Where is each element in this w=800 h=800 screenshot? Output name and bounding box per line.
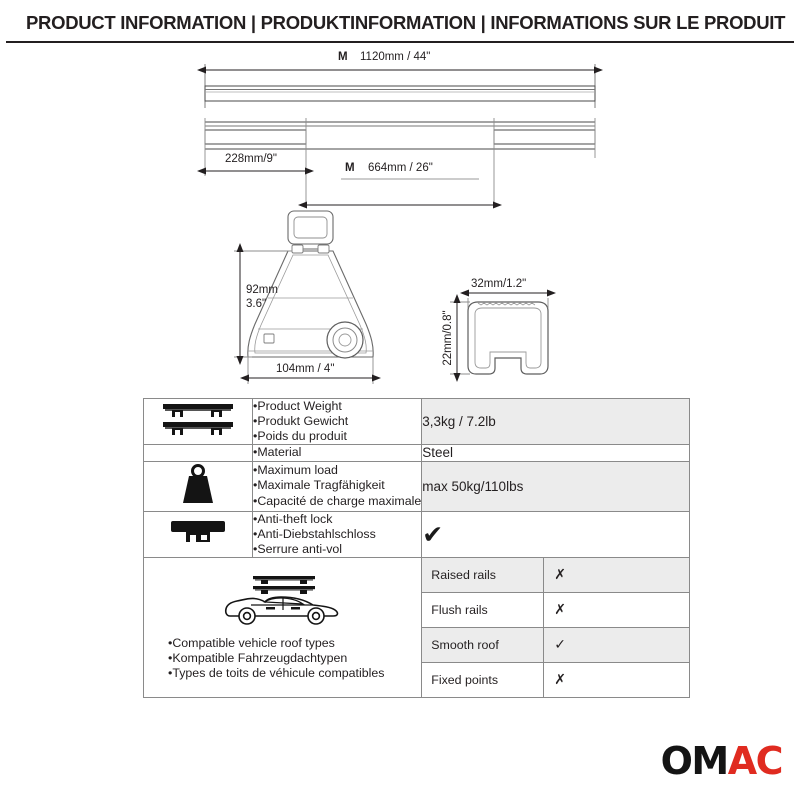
- roof-option-name: Smooth roof: [422, 627, 544, 662]
- table-row: •Material Steel: [144, 445, 690, 461]
- spec-label: •Capacité de charge maximale: [253, 494, 421, 509]
- product-weight-value: 3,3kg / 7.2lb: [422, 399, 690, 445]
- spec-label: •Anti-Diebstahlschloss: [253, 527, 421, 542]
- spec-label: •Produkt Gewicht: [253, 414, 421, 429]
- row-icon-cell: [144, 461, 253, 511]
- row-label-cell: •Material: [253, 445, 422, 461]
- spec-label: •Kompatible Fahrzeugdachtypen: [168, 651, 415, 666]
- logo-text-ac: AC: [728, 739, 782, 783]
- material-value: Steel: [422, 445, 690, 461]
- spec-label: •Material: [253, 445, 421, 460]
- table-row: •Anti-theft lock •Anti-Diebstahlschloss …: [144, 511, 690, 557]
- row-label-cell: •Anti-theft lock •Anti-Diebstahlschloss …: [253, 511, 422, 557]
- roof-types-label-cell: •Compatible vehicle roof types •Kompatib…: [144, 557, 422, 697]
- spec-label: •Compatible vehicle roof types: [168, 636, 415, 651]
- table-row-roof-types: •Compatible vehicle roof types •Kompatib…: [144, 557, 690, 697]
- technical-drawing: M 1120mm / 44": [0, 46, 800, 391]
- cross-icon: ✗: [554, 602, 566, 618]
- weight-icon: [175, 493, 221, 510]
- dim-bar-length-value: 1120mm / 44": [360, 51, 430, 63]
- roof-option-mark: ✗: [544, 558, 689, 593]
- car-with-roof-bars-icon: [221, 615, 345, 632]
- roof-option-row: Flush rails ✗: [422, 592, 689, 627]
- dim-bar-length-prefix: M: [338, 51, 348, 63]
- dim-foot-offset: 228mm/9": [225, 153, 277, 165]
- spec-label: •Product Weight: [253, 399, 421, 414]
- crossbars-icon: [161, 426, 235, 443]
- spec-label: •Poids du produit: [253, 429, 421, 444]
- spec-label: •Serrure anti-vol: [253, 542, 421, 557]
- row-icon-cell: [144, 399, 253, 445]
- roof-option-name: Fixed points: [422, 662, 544, 697]
- dim-spread-prefix: M: [345, 162, 355, 174]
- checkmark-icon: ✔: [422, 520, 443, 549]
- table-row: •Product Weight •Produkt Gewicht •Poids …: [144, 399, 690, 445]
- roof-type-compatibility-table: Raised rails ✗ Flush rails ✗: [422, 558, 689, 697]
- roof-option-mark: ✗: [544, 592, 689, 627]
- spec-label: •Maximum load: [253, 463, 421, 478]
- cross-icon: ✗: [554, 672, 566, 688]
- dim-foot-height-line2: 3.6": [246, 298, 266, 310]
- dim-spread-value: 664mm / 26": [368, 162, 433, 174]
- maximum-load-value: max 50kg/110lbs: [422, 461, 690, 511]
- dim-foot-height-line1: 92mm: [246, 284, 278, 296]
- dim-profile-height: 22mm/0.8": [442, 310, 454, 365]
- spec-label: •Anti-theft lock: [253, 512, 421, 527]
- omac-logo: OMAC: [661, 742, 782, 780]
- roof-option-name: Raised rails: [422, 558, 544, 593]
- roof-types-options-cell: Raised rails ✗ Flush rails ✗: [422, 557, 690, 697]
- anti-theft-lock-value: ✔: [422, 511, 690, 557]
- roof-option-name: Flush rails: [422, 592, 544, 627]
- roof-option-row: Fixed points ✗: [422, 662, 689, 697]
- roof-option-mark: ✓: [544, 627, 689, 662]
- dim-foot-width: 104mm / 4": [276, 363, 334, 375]
- row-label-cell: •Product Weight •Produkt Gewicht •Poids …: [253, 399, 422, 445]
- product-information-page: PRODUCT INFORMATION | PRODUKTINFORMATION…: [0, 0, 800, 800]
- table-row: •Maximum load •Maximale Tragfähigkeit •C…: [144, 461, 690, 511]
- row-label-cell: •Maximum load •Maximale Tragfähigkeit •C…: [253, 461, 422, 511]
- spec-label: •Maximale Tragfähigkeit: [253, 478, 421, 493]
- roof-option-row: Smooth roof ✓: [422, 627, 689, 662]
- specification-table: •Product Weight •Produkt Gewicht •Poids …: [143, 398, 690, 698]
- lock-icon: [167, 536, 229, 553]
- roof-option-mark: ✗: [544, 662, 689, 697]
- roof-option-row: Raised rails ✗: [422, 558, 689, 593]
- cross-icon: ✗: [554, 567, 566, 583]
- page-title: PRODUCT INFORMATION | PRODUKTINFORMATION…: [26, 12, 778, 34]
- logo-text-om: OM: [661, 739, 728, 783]
- row-icon-cell: [144, 511, 253, 557]
- dim-profile-width: 32mm/1.2": [471, 278, 526, 290]
- row-icon-cell: [144, 445, 253, 461]
- check-icon: ✓: [554, 637, 566, 653]
- header-divider: [6, 41, 794, 43]
- spec-label: •Types de toits de véhicule compatibles: [168, 666, 415, 681]
